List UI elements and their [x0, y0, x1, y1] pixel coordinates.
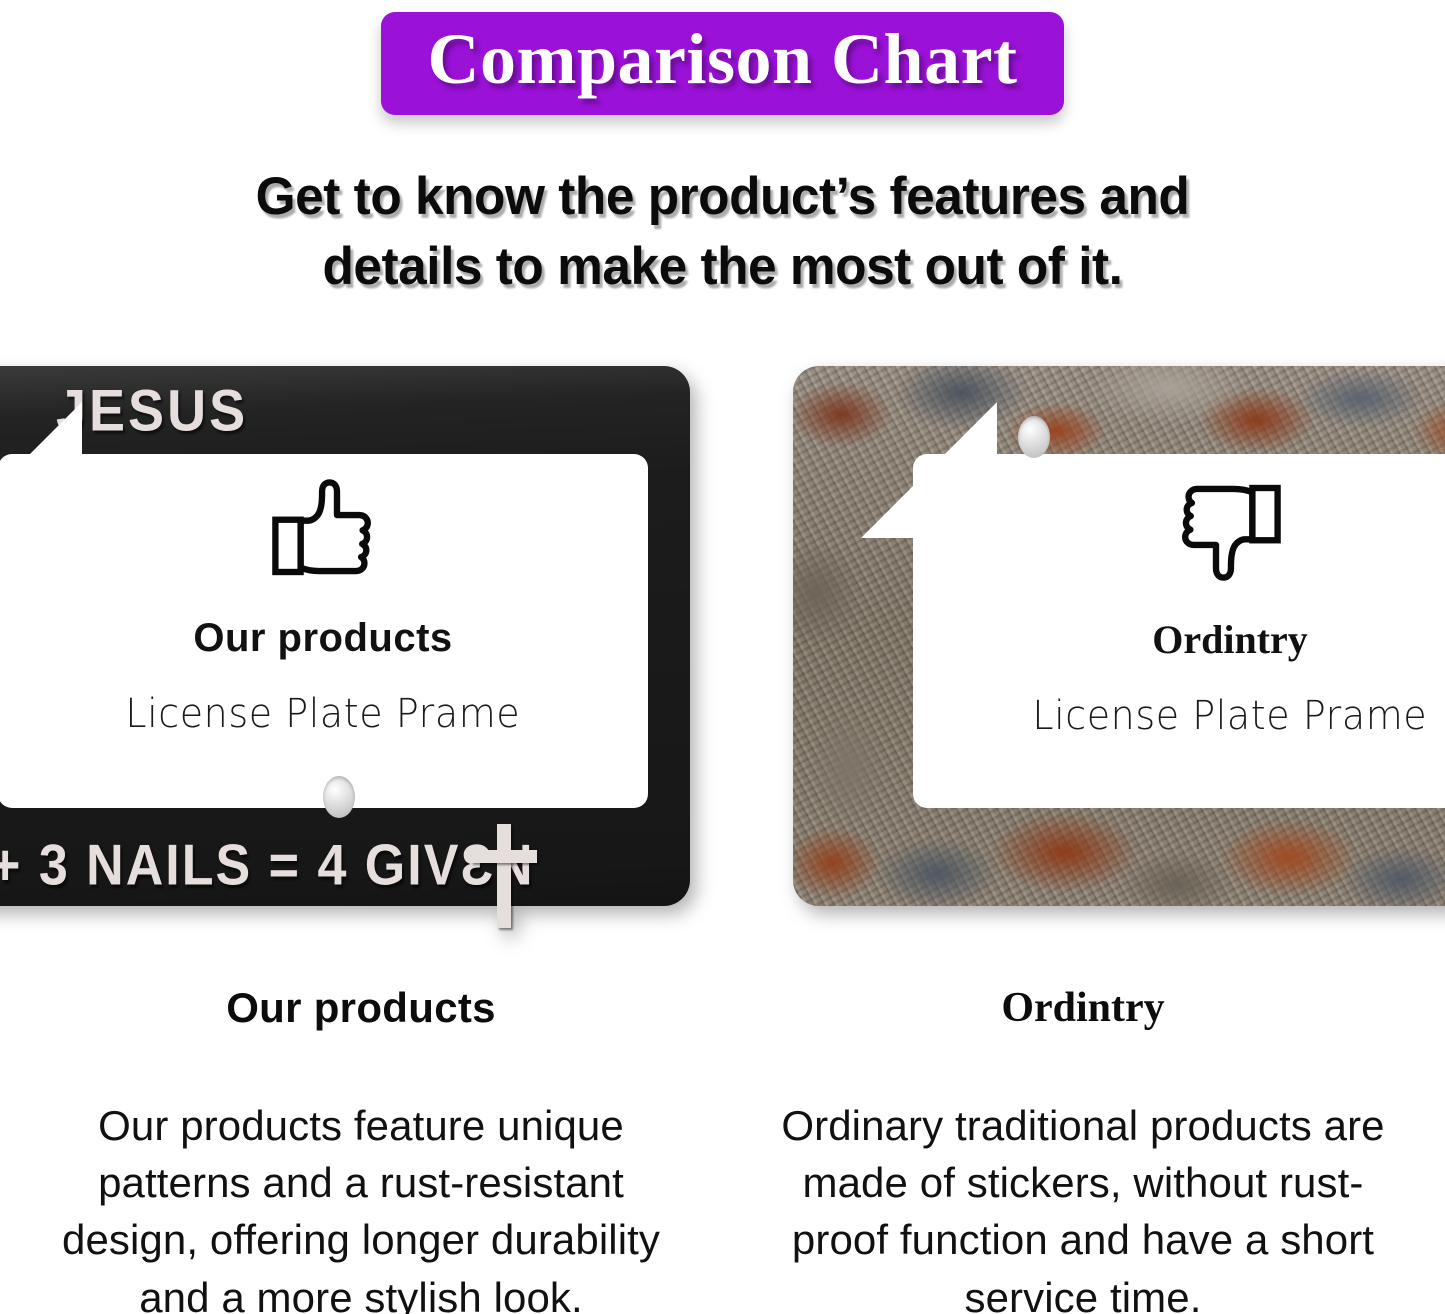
thumbs-down-icon	[1170, 474, 1290, 586]
plate-content: Ordintry License Plate Prame	[913, 454, 1445, 808]
mounting-hole	[1018, 416, 1050, 458]
subtitle-line-1: Get to know the product’s features and	[22, 162, 1424, 232]
plate-subtitle-label: License Plate Prame	[126, 691, 521, 737]
frame-bottom-engraving: + 3 NAILS = 4 GIVƐN	[0, 833, 535, 899]
frame-surface-black: JESUS Our products License Plate Prame	[0, 366, 690, 906]
comparison-chart-page: Comparison Chart Get to know the product…	[0, 0, 1445, 1314]
column-description: Our products feature unique patterns and…	[44, 1097, 678, 1314]
subtitle: Get to know the product’s features and d…	[22, 162, 1424, 303]
frame-surface-rust: Ordintry License Plate Prame	[793, 366, 1445, 906]
subtitle-line-2: details to make the most out of it.	[22, 232, 1424, 302]
thumbs-up-icon	[263, 474, 383, 586]
comparison-column-our-products: Our products Our products feature unique…	[0, 985, 722, 1314]
plate-brand-label: Our products	[193, 616, 452, 661]
comparison-columns: Our products Our products feature unique…	[0, 985, 1445, 1314]
comparison-column-ordinary: Ordintry Ordinary traditional products a…	[722, 985, 1444, 1314]
column-heading: Our products	[44, 985, 678, 1031]
title-banner-wrapper: Comparison Chart	[0, 12, 1445, 115]
ordinary-product-frame: Ordintry License Plate Prame	[793, 366, 1445, 906]
page-title: Comparison Chart	[427, 18, 1017, 101]
plate-subtitle-label: License Plate Prame	[1033, 693, 1428, 739]
title-banner: Comparison Chart	[381, 12, 1063, 115]
plate-window: Our products License Plate Prame	[0, 454, 648, 808]
column-description: Ordinary traditional products are made o…	[766, 1097, 1400, 1314]
column-heading: Ordintry	[766, 985, 1400, 1031]
plate-window: Ordintry License Plate Prame	[913, 454, 1445, 808]
product-frames-row: JESUS Our products License Plate Prame	[0, 358, 1445, 918]
mounting-hole	[323, 776, 355, 818]
frame-top-engraving: JESUS	[56, 378, 248, 445]
plate-content: Our products License Plate Prame	[0, 454, 648, 808]
cross-icon	[497, 824, 511, 928]
our-product-frame: JESUS Our products License Plate Prame	[0, 366, 690, 906]
plate-brand-label: Ordintry	[1152, 616, 1308, 663]
